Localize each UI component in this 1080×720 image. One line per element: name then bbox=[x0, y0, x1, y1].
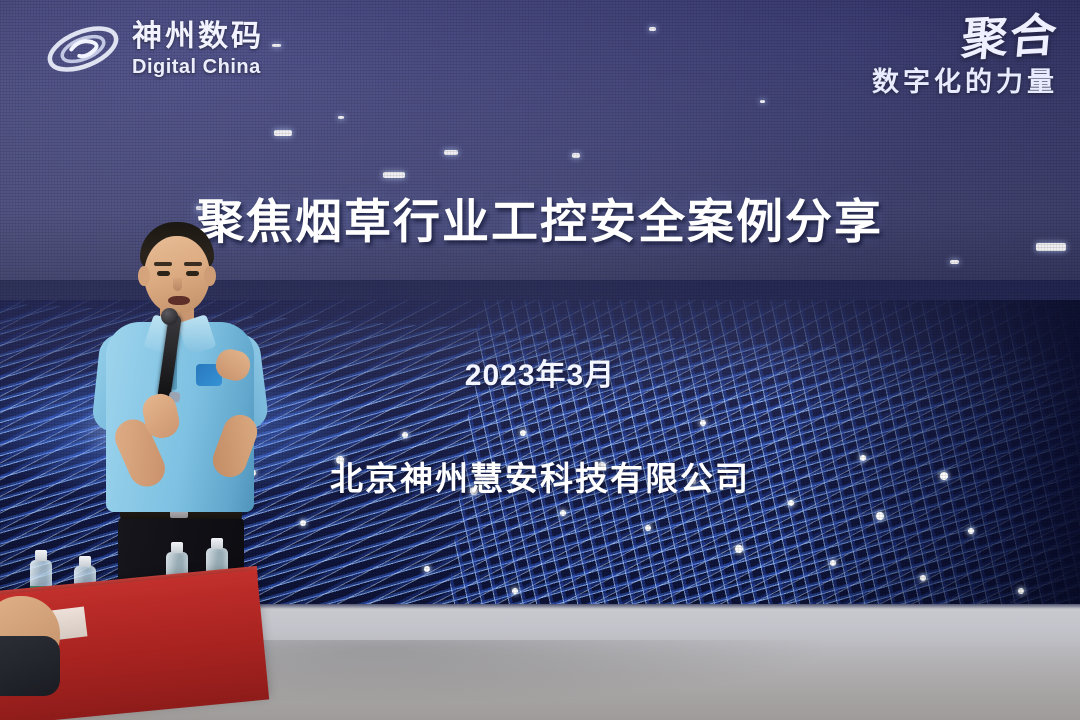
event-brand: 聚合 数字化的力量 bbox=[872, 16, 1058, 99]
presenter-nose bbox=[173, 278, 182, 291]
microphone-head bbox=[161, 308, 178, 325]
screenshot-root: 神州数码 Digital China 聚合 数字化的力量 聚焦烟草行业工控安全案… bbox=[0, 0, 1080, 720]
logo-name-cn: 神州数码 bbox=[132, 22, 264, 52]
event-calligraphy: 聚合 bbox=[960, 14, 1060, 61]
presenter-eyebrow-left bbox=[154, 262, 172, 266]
digital-china-swirl-icon bbox=[44, 18, 122, 80]
logo-name-en: Digital China bbox=[132, 57, 264, 77]
presenter-mouth bbox=[168, 296, 190, 305]
digital-china-logo: 神州数码 Digital China bbox=[44, 18, 264, 80]
bottle-cap bbox=[79, 556, 91, 567]
bottle-cap bbox=[171, 542, 183, 553]
presenter-ear-right bbox=[204, 266, 216, 286]
presenter-eye-right bbox=[186, 271, 199, 276]
bottle-cap bbox=[211, 538, 223, 549]
foreground-attendee-body bbox=[0, 636, 60, 696]
presenter-ear-left bbox=[138, 266, 150, 286]
bottle-cap bbox=[35, 550, 47, 561]
digital-china-wordmark: 神州数码 Digital China bbox=[132, 22, 264, 77]
presenter-eyebrow-right bbox=[184, 262, 202, 266]
presenter-eye-left bbox=[157, 271, 170, 276]
